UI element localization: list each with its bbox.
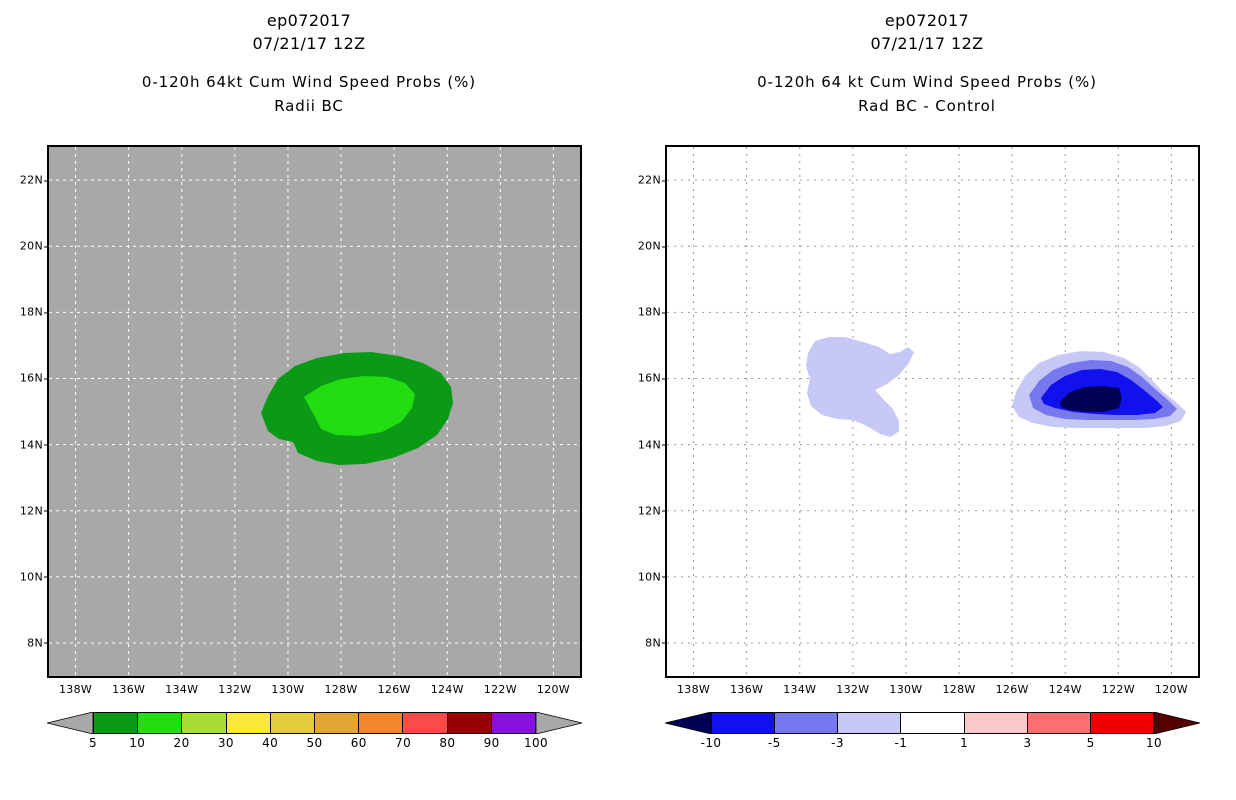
colorbar-tick-label: 90 [484,736,500,750]
colorbar-tick-label: 60 [351,736,367,750]
y-tick-label: 14N [20,438,49,451]
y-tick-label: 12N [638,504,667,517]
x-tick-label: 136W [112,676,145,696]
colorbar-tick-label: 20 [174,736,190,750]
x-tick-label: 134W [783,676,816,696]
colorbar-tick-label: -3 [831,736,844,750]
colorbar-tick-label: 10 [129,736,145,750]
chart-title: 0-120h 64kt Cum Wind Speed Probs (%) [0,70,618,95]
colorbar-tick-label: 70 [395,736,411,750]
colorbar-tick-label: 3 [1023,736,1031,750]
x-tick-label: 138W [677,676,710,696]
y-tick-label: 20N [638,240,667,253]
colorbar-over-arrow-left [536,712,582,734]
colorbar-tick-label: 40 [262,736,278,750]
x-tick-label: 120W [537,676,570,696]
x-tick-label: 126W [378,676,411,696]
x-tick-label: 120W [1155,676,1188,696]
y-tick-label: 16N [638,372,667,385]
panel-radii-bc: ep072017 07/21/17 12Z 0-120h 64kt Cum Wi… [0,0,618,800]
contour-layer-left [49,147,580,676]
colorbar-swatch [182,713,226,733]
colorbar-tick-label: -10 [701,736,722,750]
colorbar-swatch [1091,713,1153,733]
x-tick-label: 130W [889,676,922,696]
colorbar-swatch [271,713,315,733]
y-tick-label: 22N [20,174,49,187]
colorbar-swatch [838,713,901,733]
colorbar-swatch [775,713,838,733]
colorbar-tick-label: 5 [89,736,97,750]
colorbar-tick-label: 5 [1087,736,1095,750]
chart-subtitle: Radii BC [0,95,618,117]
x-tick-label: 132W [836,676,869,696]
y-tick-label: 20N [20,240,49,253]
map-plot-area-right[interactable]: 22N20N18N16N14N12N10N8N 138W136W134W132W… [665,145,1200,678]
colorbar-swatch [94,713,138,733]
y-tick-label: 10N [638,570,667,583]
x-tick-label: 128W [325,676,358,696]
colorbar-tick-label: 50 [306,736,322,750]
x-tick-label: 124W [1049,676,1082,696]
y-tick-label: 10N [20,570,49,583]
colorbar-tick-label: 80 [439,736,455,750]
y-tick-label: 14N [638,438,667,451]
y-tick-label: 18N [638,306,667,319]
x-tick-label: 124W [431,676,464,696]
colorbar-swatch [901,713,964,733]
difference-colorbar[interactable]: -10-5-3-113510 [665,710,1200,770]
x-tick-label: 126W [996,676,1029,696]
forecast-datetime: 07/21/17 12Z [0,32,618,56]
colorbar-tick-label: -1 [894,736,907,750]
x-tick-label: 130W [271,676,304,696]
contour-layer-right [667,147,1198,676]
colorbar-tick-label: 10 [1146,736,1162,750]
colorbar-swatch [403,713,447,733]
colorbar-swatch [448,713,492,733]
colorbar-swatch [492,713,535,733]
y-tick-label: 8N [27,636,49,649]
panel-right-titles: ep072017 07/21/17 12Z 0-120h 64 kt Cum W… [618,10,1236,117]
probability-colorbar[interactable]: 5102030405060708090100 [47,710,582,770]
y-tick-label: 12N [20,504,49,517]
panel-left-titles: ep072017 07/21/17 12Z 0-120h 64kt Cum Wi… [0,10,618,117]
colorbar-tick-label: 100 [524,736,548,750]
x-tick-label: 128W [943,676,976,696]
colorbar-under-arrow-right [665,712,711,734]
colorbar-over-arrow-right [1154,712,1200,734]
storm-id: ep072017 [0,10,618,32]
x-tick-label: 138W [59,676,92,696]
y-tick-label: 16N [20,372,49,385]
colorbar-under-arrow-left [47,712,93,734]
colorbar-swatch [315,713,359,733]
x-tick-label: 134W [165,676,198,696]
colorbar-swatch [138,713,182,733]
colorbar-tick-labels-right: -10-5-3-113510 [711,736,1154,756]
colorbar-tick-label: -5 [768,736,781,750]
x-tick-label: 122W [484,676,517,696]
colorbar-swatch [227,713,271,733]
colorbar-swatch [965,713,1028,733]
colorbar-swatch [1028,713,1091,733]
chart-subtitle: Rad BC - Control [618,95,1236,117]
forecast-datetime: 07/21/17 12Z [618,32,1236,56]
colorbar-cells-right [711,712,1154,734]
y-tick-label: 8N [645,636,667,649]
colorbar-cells-left [93,712,536,734]
colorbar-swatch [712,713,775,733]
x-tick-label: 136W [730,676,763,696]
contour-region-west-m3-m1 [806,337,914,437]
x-tick-label: 132W [218,676,251,696]
panel-rad-bc-control: ep072017 07/21/17 12Z 0-120h 64 kt Cum W… [618,0,1236,800]
storm-id: ep072017 [618,10,1236,32]
chart-title: 0-120h 64 kt Cum Wind Speed Probs (%) [618,70,1236,95]
colorbar-tick-label: 30 [218,736,234,750]
y-tick-label: 18N [20,306,49,319]
x-tick-label: 122W [1102,676,1135,696]
colorbar-tick-labels-left: 5102030405060708090100 [93,736,536,756]
y-tick-label: 22N [638,174,667,187]
map-plot-area-left[interactable]: 22N20N18N16N14N12N10N8N 138W136W134W132W… [47,145,582,678]
colorbar-swatch [359,713,403,733]
colorbar-tick-label: 1 [960,736,968,750]
